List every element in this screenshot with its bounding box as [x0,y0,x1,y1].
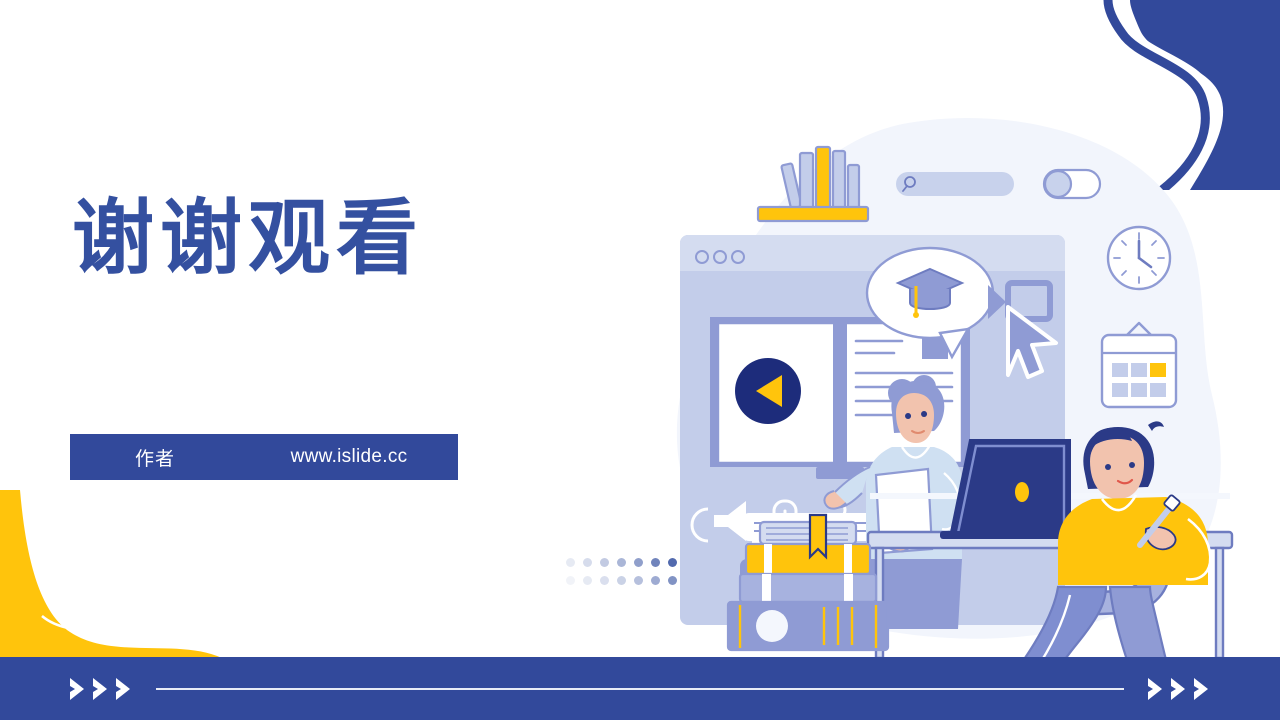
dot [600,576,609,585]
dot [566,558,575,567]
toggle-switch[interactable] [1044,170,1100,198]
right-chevrons [1146,676,1212,702]
website-label[interactable]: www.islide.cc [240,446,458,468]
calendar-icon [1102,323,1176,407]
chevron-right-icon [91,676,111,702]
bottom-divider-line [156,688,1124,690]
chevron-right-icon [1192,676,1212,702]
bottom-bar [0,657,1280,720]
slide-canvas: 谢谢观看 作者 www.islide.cc [0,0,1280,720]
dot [600,558,609,567]
dot [583,558,592,567]
play-button[interactable] [735,358,801,424]
author-label: 作者 [70,444,240,471]
page-title: 谢谢观看 [72,196,424,282]
left-chevrons [68,676,134,702]
e-learning-illustration [640,95,1260,670]
chevron-right-icon [68,676,88,702]
dot [617,558,626,567]
search-field[interactable] [896,172,1014,196]
author-bar: 作者 www.islide.cc [70,434,458,480]
clock-icon [1108,227,1170,289]
chevron-right-icon [1146,676,1166,702]
dot [617,576,626,585]
dot [583,576,592,585]
chevron-right-icon [114,676,134,702]
dot [566,576,575,585]
chevron-right-icon [1169,676,1189,702]
